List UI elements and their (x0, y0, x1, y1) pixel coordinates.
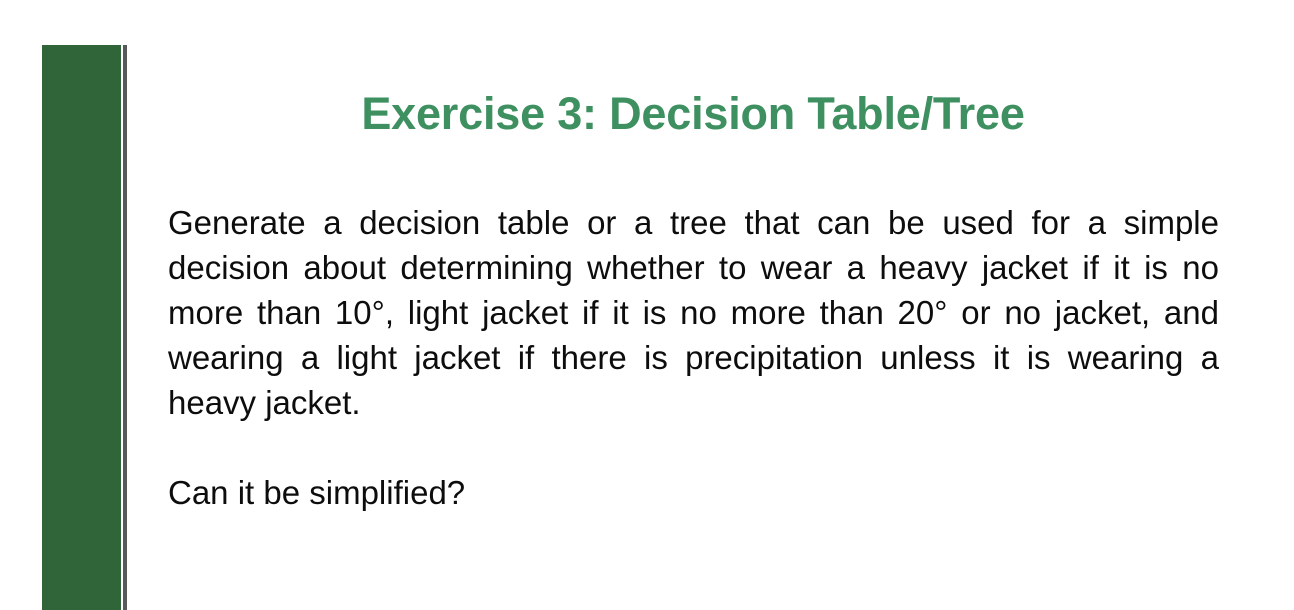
paragraph-spacer (168, 425, 1219, 470)
body-paragraph: Generate a decision table or a tree that… (168, 200, 1219, 425)
slide-canvas: Exercise 3: Decision Table/Tree Generate… (0, 0, 1294, 610)
body-question: Can it be simplified? (168, 470, 1219, 515)
slide-body: Generate a decision table or a tree that… (168, 200, 1219, 515)
left-accent-bar (42, 45, 121, 610)
page-title: Exercise 3: Decision Table/Tree (168, 84, 1218, 144)
left-accent-rule (123, 45, 127, 610)
